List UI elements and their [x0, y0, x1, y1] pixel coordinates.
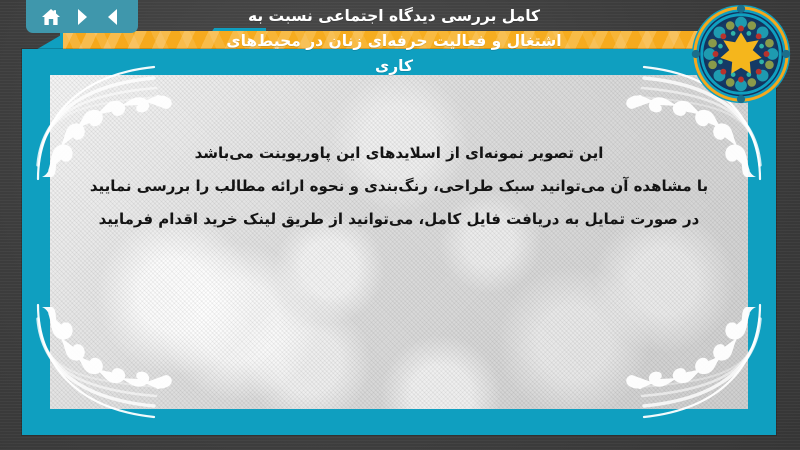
title-line-3: کاری — [375, 57, 413, 75]
body-line-3: در صورت تمایل به دریافت فایل کامل، می‌تو… — [48, 203, 750, 236]
triangle-left-icon[interactable] — [103, 7, 123, 27]
slide-body-text: این تصویر نمونه‌ای از اسلایدهای این پاور… — [22, 137, 776, 236]
title-line-2: اشتغال و فعالیت حرفه‌ای زنان در محیط‌های — [226, 32, 561, 50]
body-line-1: این تصویر نمونه‌ای از اسلایدهای این پاور… — [48, 137, 750, 170]
slide-frame: این تصویر نمونه‌ای از اسلایدهای این پاور… — [22, 49, 776, 435]
triangle-right-icon[interactable] — [72, 7, 92, 27]
persian-medallion-ornament — [690, 2, 792, 106]
slide-viewer: کامل بررسی دیدگاه اجتماعی نسبت به اشتغال… — [0, 0, 800, 450]
title-line-1: کامل بررسی دیدگاه اجتماعی نسبت به — [248, 7, 540, 25]
body-line-2: با مشاهده آن می‌توانید سبک طراحی، رنگ‌بن… — [48, 170, 750, 203]
slide-content-area — [50, 75, 748, 409]
navigation-bar — [26, 0, 138, 33]
home-icon[interactable] — [41, 7, 61, 27]
